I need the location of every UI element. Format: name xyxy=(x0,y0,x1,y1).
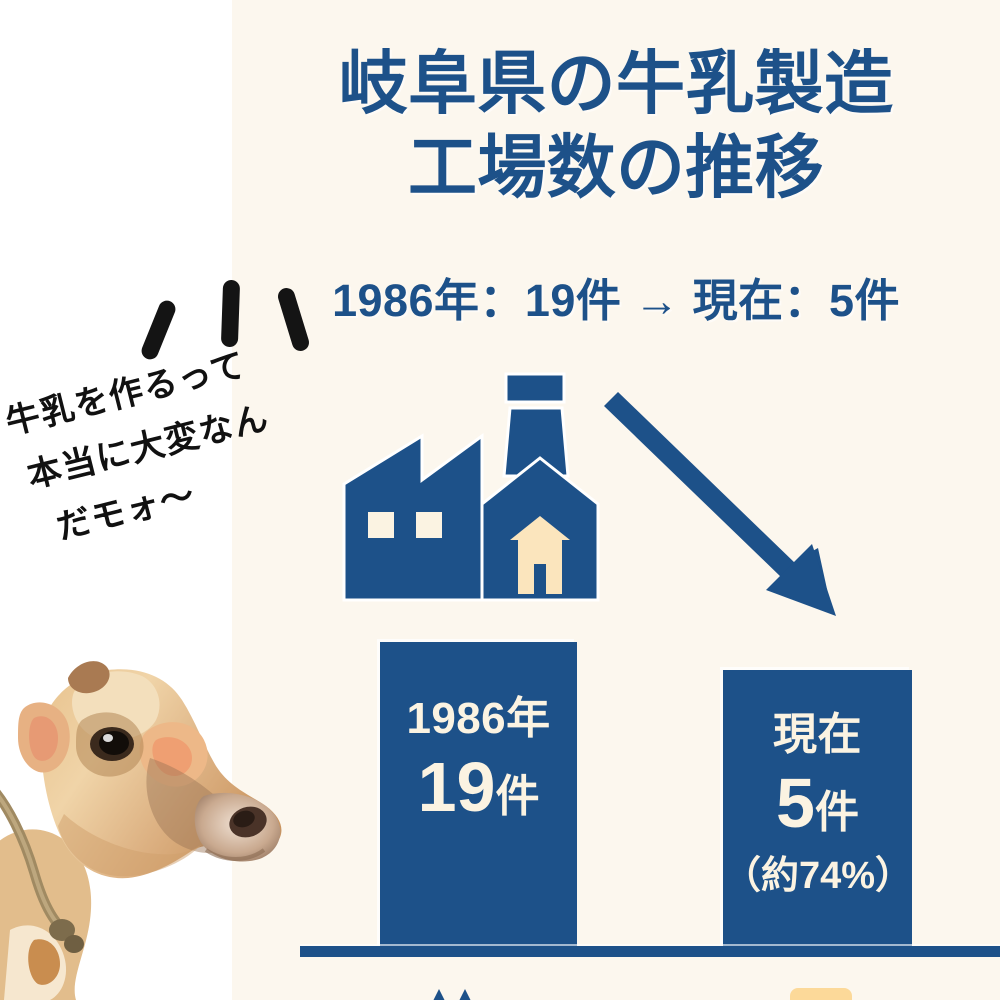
bottom-partial-tan-shape xyxy=(790,988,852,1000)
bar-value-number: 19 xyxy=(418,748,496,826)
title-line-1: 岐阜県の牛乳製造 xyxy=(232,42,1000,126)
chart-baseline xyxy=(300,946,1000,957)
bottom-partial-blue-shape xyxy=(425,985,485,1000)
page-subtitle: 1986年：19件 → 現在：5件 xyxy=(232,274,1000,328)
cow-photo xyxy=(0,600,320,1000)
infographic-canvas: 岐阜県の牛乳製造 工場数の推移 1986年：19件 → 現在：5件 牛乳を作るっ… xyxy=(0,0,1000,1000)
bar-present: 現在 5件 （約74%） xyxy=(723,670,912,948)
bar-value-unit: 件 xyxy=(495,772,539,821)
page-title: 岐阜県の牛乳製造 工場数の推移 xyxy=(232,42,1000,210)
bar-label: 現在 xyxy=(773,710,862,760)
title-line-2: 工場数の推移 xyxy=(232,126,1000,210)
bar-value-number: 5 xyxy=(776,764,815,842)
bar-label: 1986年 xyxy=(406,694,550,744)
down-right-arrow-icon xyxy=(596,376,866,624)
factory-icon xyxy=(330,368,630,612)
bar-value: 19件 xyxy=(418,748,540,836)
bar-1986: 1986年 19件 xyxy=(380,642,577,948)
bar-value-unit: 件 xyxy=(815,788,859,837)
bar-value: 5件 xyxy=(776,764,859,852)
bar-note: （約74%） xyxy=(723,854,912,898)
